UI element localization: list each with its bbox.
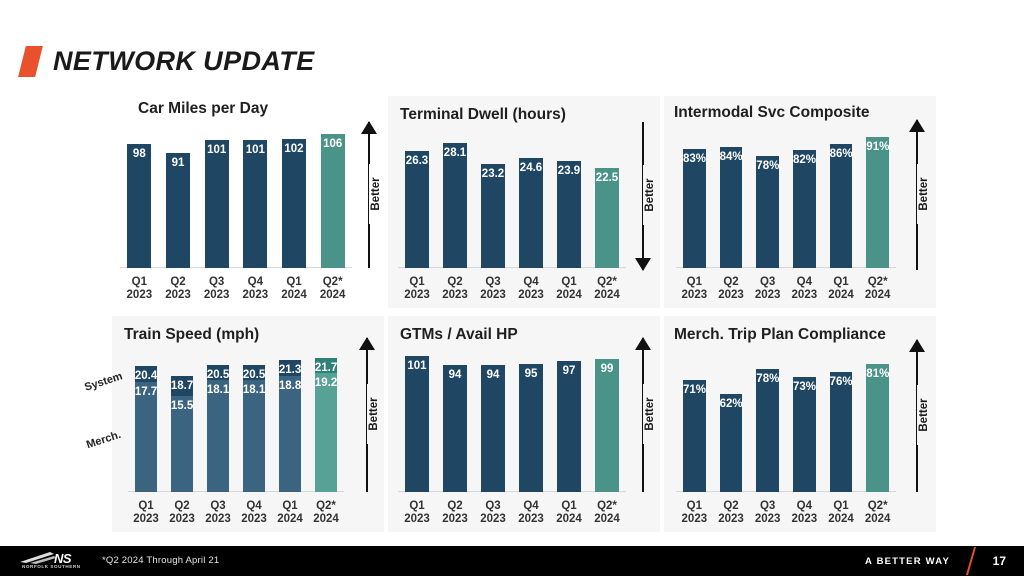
x-axis-label: Q32023 [749, 276, 786, 302]
bar-value-label: 98 [127, 148, 151, 160]
x-axis-label: Q32023 [749, 500, 786, 526]
x-axis-label: Q42023 [786, 276, 823, 302]
chart-title: GTMs / Avail HP [400, 326, 518, 344]
bar-value-label: 91 [166, 157, 190, 169]
x-axis-label-quarter: Q1 [550, 276, 588, 289]
better-arrow-up: Better [904, 340, 930, 492]
bar-terminal-dwell-hours-1[interactable]: 26.3 [405, 151, 429, 268]
bar-segment-merch[interactable]: 17.7 [135, 382, 157, 492]
bar-value-label: 18.1 [207, 384, 229, 396]
x-axis-label-quarter: Q4 [786, 500, 823, 513]
bar-segment[interactable]: 106 [321, 134, 345, 268]
bar-car-miles-per-day-2[interactable]: 91 [166, 153, 190, 268]
bar-segment[interactable]: 101 [243, 140, 267, 268]
bar-value-label: 28.1 [443, 147, 467, 159]
x-axis-label-year: 2023 [436, 513, 474, 526]
bar-segment-merch[interactable]: 15.5 [171, 396, 193, 492]
x-axis-label: Q2*2024 [588, 500, 626, 526]
plot-area: 71%62%78%73%76%81% [676, 356, 896, 492]
x-axis-label: Q2*2024 [859, 276, 896, 302]
bar-value-label: 18.8 [279, 380, 301, 392]
x-axis-label-year: 2023 [398, 289, 436, 302]
x-axis-label-quarter: Q2* [308, 500, 344, 513]
bar-gtms-per-avail-hp-4[interactable]: 95 [519, 364, 543, 492]
x-axis-label-quarter: Q1 [676, 500, 713, 513]
x-axis-label-quarter: Q2 [159, 276, 198, 289]
x-axis-label-quarter: Q1 [676, 276, 713, 289]
footnote-text: *Q2 2024 Through April 21 [102, 555, 219, 566]
x-axis-label-year: 2023 [676, 513, 713, 526]
x-axis-label-quarter: Q1 [398, 276, 436, 289]
x-axis-label-year: 2023 [197, 289, 236, 302]
x-axis-label-year: 2023 [236, 513, 272, 526]
bar-value-label: 91% [866, 141, 889, 153]
bar-segment[interactable]: 102 [282, 139, 306, 268]
chart-panel-train-speed: Train Speed (mph) 20.417.718.715.520.518… [112, 316, 384, 532]
x-axis-label-quarter: Q3 [749, 276, 786, 289]
bar-intermodal-svc-composite-6[interactable]: 91% [866, 137, 889, 268]
plot-area: 1019494959799 [398, 352, 626, 492]
x-axis-label-year: 2024 [550, 289, 588, 302]
bar-intermodal-svc-composite-2[interactable]: 84% [720, 147, 743, 268]
x-axis-label-year: 2023 [159, 289, 198, 302]
better-arrow-up: Better [904, 120, 930, 270]
x-axis-label: Q42023 [236, 276, 275, 302]
bar-segment[interactable]: 23.2 [481, 164, 505, 268]
bar-terminal-dwell-hours-2[interactable]: 28.1 [443, 143, 467, 269]
x-axis-label-year: 2023 [512, 513, 550, 526]
x-axis-label-year: 2024 [823, 289, 860, 302]
bar-segment[interactable]: 82% [793, 150, 816, 268]
x-axis-label-year: 2023 [120, 289, 159, 302]
bar-value-label: 86% [830, 148, 853, 160]
x-axis-label: Q42023 [236, 500, 272, 526]
x-axis-label: Q12023 [676, 276, 713, 302]
bar-segment-system[interactable]: 21.3 [279, 360, 301, 375]
bar-value-label: 102 [282, 143, 306, 155]
x-axis-label-quarter: Q3 [474, 500, 512, 513]
bar-value-label: 81% [866, 368, 889, 380]
x-axis-label-year: 2024 [823, 513, 860, 526]
bar-segment[interactable]: 26.3 [405, 151, 429, 268]
bar-train-speed-mph-2[interactable]: 18.715.5 [171, 376, 193, 492]
x-axis-label: Q22023 [164, 500, 200, 526]
page-number: 17 [993, 554, 1006, 568]
x-axis-label: Q12023 [398, 276, 436, 302]
x-axis [398, 491, 626, 493]
bar-merch-trip-plan-compliance-5[interactable]: 76% [830, 372, 853, 492]
bar-value-label: 83% [683, 153, 706, 165]
x-axis-label-year: 2023 [512, 289, 550, 302]
x-axis-label: Q12023 [676, 500, 713, 526]
bar-segment-system[interactable]: 20.4 [135, 366, 157, 383]
series-label-merch: Merch. [85, 429, 122, 451]
bar-value-label: 21.3 [279, 364, 301, 376]
x-axis-label-year: 2024 [272, 513, 308, 526]
tagline-text: A BETTER WAY [865, 556, 950, 567]
bar-value-label: 26.3 [405, 155, 429, 167]
x-axis-label: Q12024 [550, 500, 588, 526]
x-axis [676, 267, 896, 269]
bar-segment-merch[interactable]: 18.8 [279, 376, 301, 492]
bar-segment-system[interactable]: 18.7 [171, 376, 193, 396]
x-axis [128, 491, 344, 493]
bar-gtms-per-avail-hp-6[interactable]: 99 [595, 359, 619, 492]
x-axis-label: Q22023 [159, 276, 198, 302]
bar-segment[interactable]: 73% [793, 377, 816, 492]
bar-segment[interactable]: 24.6 [519, 158, 543, 268]
bar-value-label: 106 [321, 138, 345, 150]
bar-value-label: 101 [205, 144, 229, 156]
x-axis-label-year: 2023 [164, 513, 200, 526]
bar-gtms-per-avail-hp-1[interactable]: 101 [405, 356, 429, 492]
better-label: Better [367, 384, 381, 444]
x-axis-label: Q12023 [120, 276, 159, 302]
x-axis-label-year: 2023 [474, 289, 512, 302]
x-axis-label-year: 2023 [713, 513, 750, 526]
x-axis-label-year: 2023 [786, 513, 823, 526]
bar-gtms-per-avail-hp-2[interactable]: 94 [443, 365, 467, 492]
x-axis-label-year: 2024 [859, 289, 896, 302]
x-axis-label-quarter: Q4 [512, 276, 550, 289]
bar-intermodal-svc-composite-3[interactable]: 78% [756, 156, 779, 268]
x-axis-label: Q12024 [823, 276, 860, 302]
bar-gtms-per-avail-hp-5[interactable]: 97 [557, 361, 581, 492]
bar-value-label: 99 [595, 363, 619, 375]
bar-segment[interactable]: 78% [756, 369, 779, 492]
bar-value-label: 73% [793, 381, 816, 393]
bar-value-label: 78% [756, 160, 779, 172]
page-title-text: NETWORK UPDATE [53, 46, 315, 77]
x-axis-label: Q22023 [436, 500, 474, 526]
bar-segment[interactable]: 62% [720, 394, 743, 492]
x-axis-label-quarter: Q3 [197, 276, 236, 289]
x-axis-label-year: 2023 [713, 289, 750, 302]
chart-panel-intermodal-svc-composite: Intermodal Svc Composite 83%84%78%82%86%… [664, 96, 936, 308]
x-axis-label-year: 2023 [474, 513, 512, 526]
plot-area: 20.417.718.715.520.518.120.518.121.318.8… [128, 352, 344, 492]
bar-merch-trip-plan-compliance-6[interactable]: 81% [866, 364, 889, 492]
bar-segment-merch[interactable]: 18.1 [243, 380, 265, 492]
better-label: Better [643, 165, 657, 225]
bar-segment[interactable]: 94 [443, 365, 467, 492]
x-axis-label: Q42023 [512, 500, 550, 526]
x-axis-label-quarter: Q1 [275, 276, 314, 289]
x-axis-label: Q12023 [128, 500, 164, 526]
x-axis-label-year: 2023 [236, 289, 275, 302]
bar-segment[interactable]: 78% [756, 156, 779, 268]
better-arrow-down: Better [630, 122, 656, 270]
x-axis-label: Q32023 [200, 500, 236, 526]
x-axis-label-year: 2024 [550, 513, 588, 526]
series-label-system: System [83, 370, 124, 394]
x-axis-label-year: 2024 [588, 513, 626, 526]
page-title: NETWORK UPDATE [22, 46, 315, 77]
x-axis-label-year: 2023 [749, 289, 786, 302]
bar-segment[interactable]: 98 [127, 144, 151, 268]
better-arrow-up: Better [356, 122, 382, 268]
x-axis [120, 267, 352, 269]
bar-car-miles-per-day-3[interactable]: 101 [205, 140, 229, 268]
x-axis-label-year: 2023 [200, 513, 236, 526]
bar-value-label: 95 [519, 368, 543, 380]
x-axis-label-quarter: Q2 [436, 276, 474, 289]
chart-title: Car Miles per Day [138, 100, 268, 118]
bar-value-label: 84% [720, 151, 743, 163]
bar-terminal-dwell-hours-5[interactable]: 23.9 [557, 161, 581, 268]
better-label: Better [917, 164, 931, 224]
bar-segment[interactable]: 94 [481, 365, 505, 492]
bar-train-speed-mph-6[interactable]: 21.719.2 [315, 358, 337, 492]
bar-value-label: 101 [405, 360, 429, 372]
bar-segment-merch[interactable]: 18.1 [207, 380, 229, 492]
bar-segment[interactable]: 99 [595, 359, 619, 492]
logo-subtext: NORFOLK SOUTHERN [22, 564, 81, 569]
better-label: Better [369, 164, 383, 224]
plot-area: 26.328.123.224.623.922.5 [398, 134, 626, 268]
bar-value-label: 18.7 [171, 380, 193, 392]
x-axis-label-year: 2023 [398, 513, 436, 526]
x-axis-label-quarter: Q3 [474, 276, 512, 289]
bar-value-label: 94 [481, 369, 505, 381]
x-axis-label: Q12024 [272, 500, 308, 526]
x-axis-label: Q32023 [197, 276, 236, 302]
chart-panel-merch-trip-plan-compliance: Merch. Trip Plan Compliance 71%62%78%73%… [664, 316, 936, 532]
bar-train-speed-mph-5[interactable]: 21.318.8 [279, 360, 301, 492]
bar-car-miles-per-day-6[interactable]: 106 [321, 134, 345, 268]
x-axis-label-quarter: Q1 [128, 500, 164, 513]
x-axis-label: Q12024 [550, 276, 588, 302]
x-axis-label-quarter: Q1 [272, 500, 308, 513]
bar-value-label: 94 [443, 369, 467, 381]
better-label: Better [917, 385, 931, 445]
x-axis-label-year: 2023 [676, 289, 713, 302]
chart-title: Terminal Dwell (hours) [400, 106, 566, 124]
chart-title: Train Speed (mph) [124, 326, 259, 344]
bar-value-label: 62% [720, 398, 743, 410]
chart-panel-gtms-avail-hp: GTMs / Avail HP 1019494959799 Better Q12… [388, 316, 660, 532]
x-axis-label: Q12023 [398, 500, 436, 526]
x-axis-label: Q42023 [786, 500, 823, 526]
bar-value-label: 71% [683, 384, 706, 396]
x-axis-label: Q2*2024 [313, 276, 352, 302]
x-axis-label-quarter: Q2* [859, 276, 896, 289]
bar-train-speed-mph-3[interactable]: 20.518.1 [207, 365, 229, 492]
bar-value-label: 18.1 [243, 384, 265, 396]
x-axis-label-quarter: Q4 [236, 500, 272, 513]
footer-accent-slash-icon [966, 547, 976, 575]
bar-value-label: 21.7 [315, 362, 337, 374]
slide-root: NETWORK UPDATE Car Miles per Day 9891101… [0, 0, 1024, 576]
bar-merch-trip-plan-compliance-3[interactable]: 78% [756, 369, 779, 492]
bar-terminal-dwell-hours-4[interactable]: 24.6 [519, 158, 543, 268]
footer-bar: NS NORFOLK SOUTHERN *Q2 2024 Through Apr… [0, 546, 1024, 576]
bar-merch-trip-plan-compliance-2[interactable]: 62% [720, 394, 743, 492]
chart-panel-terminal-dwell: Terminal Dwell (hours) 26.328.123.224.62… [388, 96, 660, 308]
bar-value-label: 23.9 [557, 165, 581, 177]
bar-value-label: 15.5 [171, 400, 193, 412]
bar-terminal-dwell-hours-3[interactable]: 23.2 [481, 164, 505, 268]
x-axis-label: Q32023 [474, 276, 512, 302]
x-axis-label-quarter: Q2 [713, 500, 750, 513]
x-axis-label-quarter: Q1 [823, 500, 860, 513]
x-axis-label-quarter: Q4 [236, 276, 275, 289]
x-axis-label-quarter: Q2* [588, 276, 626, 289]
bar-segment[interactable]: 86% [830, 144, 853, 268]
bar-merch-trip-plan-compliance-1[interactable]: 71% [683, 380, 706, 492]
x-axis-label-quarter: Q1 [120, 276, 159, 289]
x-axis [398, 267, 626, 269]
x-axis-label-year: 2023 [749, 513, 786, 526]
x-axis-label-quarter: Q4 [786, 276, 823, 289]
x-axis-label-year: 2023 [128, 513, 164, 526]
norfolk-southern-logo: NS NORFOLK SOUTHERN [20, 551, 94, 572]
bar-merch-trip-plan-compliance-4[interactable]: 73% [793, 377, 816, 492]
bar-terminal-dwell-hours-6[interactable]: 22.5 [595, 168, 619, 269]
x-axis-label-year: 2024 [588, 289, 626, 302]
bar-car-miles-per-day-4[interactable]: 101 [243, 140, 267, 268]
x-axis-label: Q12024 [823, 500, 860, 526]
bar-value-label: 20.4 [135, 370, 157, 382]
x-axis-label-quarter: Q2* [588, 500, 626, 513]
bar-segment[interactable]: 28.1 [443, 143, 467, 269]
bar-segment[interactable]: 81% [866, 364, 889, 492]
x-axis-label: Q22023 [713, 276, 750, 302]
plot-area: 9891101101102106 [120, 126, 352, 268]
chart-panel-car-miles-per-day: Car Miles per Day 9891101101102106 Bette… [112, 96, 370, 308]
x-axis-label-quarter: Q2* [313, 276, 352, 289]
better-arrow-up: Better [354, 338, 380, 492]
x-axis-label-quarter: Q2 [164, 500, 200, 513]
bar-value-label: 17.7 [135, 386, 157, 398]
bar-segment[interactable]: 101 [205, 140, 229, 268]
x-axis-label-quarter: Q3 [200, 500, 236, 513]
bar-segment[interactable]: 97 [557, 361, 581, 492]
x-axis-label: Q22023 [713, 500, 750, 526]
bar-value-label: 78% [756, 373, 779, 385]
x-axis-label-quarter: Q2 [436, 500, 474, 513]
bar-value-label: 22.5 [595, 172, 619, 184]
bar-car-miles-per-day-5[interactable]: 102 [282, 139, 306, 268]
x-axis-label: Q2*2024 [308, 500, 344, 526]
bar-value-label: 101 [243, 144, 267, 156]
x-axis-label-quarter: Q3 [749, 500, 786, 513]
bar-value-label: 97 [557, 365, 581, 377]
bar-value-label: 76% [830, 376, 853, 388]
bar-value-label: 82% [793, 154, 816, 166]
bar-train-speed-mph-4[interactable]: 20.518.1 [243, 365, 265, 492]
bar-segment[interactable]: 83% [683, 149, 706, 268]
bar-segment[interactable]: 23.9 [557, 161, 581, 268]
x-axis-label: Q22023 [436, 276, 474, 302]
bar-train-speed-mph-1[interactable]: 20.417.7 [135, 366, 157, 492]
chart-title: Merch. Trip Plan Compliance [674, 326, 886, 344]
x-axis-label-quarter: Q2 [713, 276, 750, 289]
x-axis-label-quarter: Q1 [823, 276, 860, 289]
x-axis-label-year: 2024 [313, 289, 352, 302]
plot-area: 83%84%78%82%86%91% [676, 130, 896, 268]
bar-gtms-per-avail-hp-3[interactable]: 94 [481, 365, 505, 492]
bar-value-label: 23.2 [481, 168, 505, 180]
x-axis-label-quarter: Q4 [512, 500, 550, 513]
bar-intermodal-svc-composite-1[interactable]: 83% [683, 149, 706, 268]
x-axis-label: Q42023 [512, 276, 550, 302]
x-axis-label-year: 2024 [859, 513, 896, 526]
x-axis-label-year: 2024 [275, 289, 314, 302]
bar-segment[interactable]: 71% [683, 380, 706, 492]
bar-segment-system[interactable]: 20.5 [207, 365, 229, 380]
x-axis-label-quarter: Q1 [550, 500, 588, 513]
bar-segment-system[interactable]: 20.5 [243, 365, 265, 380]
bar-intermodal-svc-composite-5[interactable]: 86% [830, 144, 853, 268]
x-axis-label-year: 2024 [308, 513, 344, 526]
x-axis-label: Q2*2024 [859, 500, 896, 526]
bar-segment[interactable]: 91% [866, 137, 889, 268]
bar-value-label: 24.6 [519, 162, 543, 174]
bar-segment[interactable]: 101 [405, 356, 429, 492]
x-axis-label-year: 2023 [786, 289, 823, 302]
bar-car-miles-per-day-1[interactable]: 98 [127, 144, 151, 268]
bar-segment[interactable]: 84% [720, 147, 743, 268]
bar-segment[interactable]: 91 [166, 153, 190, 268]
x-axis-label-year: 2023 [436, 289, 474, 302]
accent-slash-icon [18, 46, 43, 77]
x-axis-label-quarter: Q2* [859, 500, 896, 513]
bar-segment-system[interactable]: 21.7 [315, 358, 337, 373]
better-label: Better [643, 384, 657, 444]
bar-segment[interactable]: 76% [830, 372, 853, 492]
x-axis-label: Q12024 [275, 276, 314, 302]
chart-title: Intermodal Svc Composite [674, 104, 870, 122]
bar-segment[interactable]: 22.5 [595, 168, 619, 269]
bar-intermodal-svc-composite-4[interactable]: 82% [793, 150, 816, 268]
x-axis-label: Q2*2024 [588, 276, 626, 302]
bar-segment-merch[interactable]: 19.2 [315, 373, 337, 492]
bar-value-label: 19.2 [315, 377, 337, 389]
x-axis [676, 491, 896, 493]
x-axis-label-quarter: Q1 [398, 500, 436, 513]
better-arrow-up: Better [630, 338, 656, 492]
x-axis-label: Q32023 [474, 500, 512, 526]
bar-segment[interactable]: 95 [519, 364, 543, 492]
